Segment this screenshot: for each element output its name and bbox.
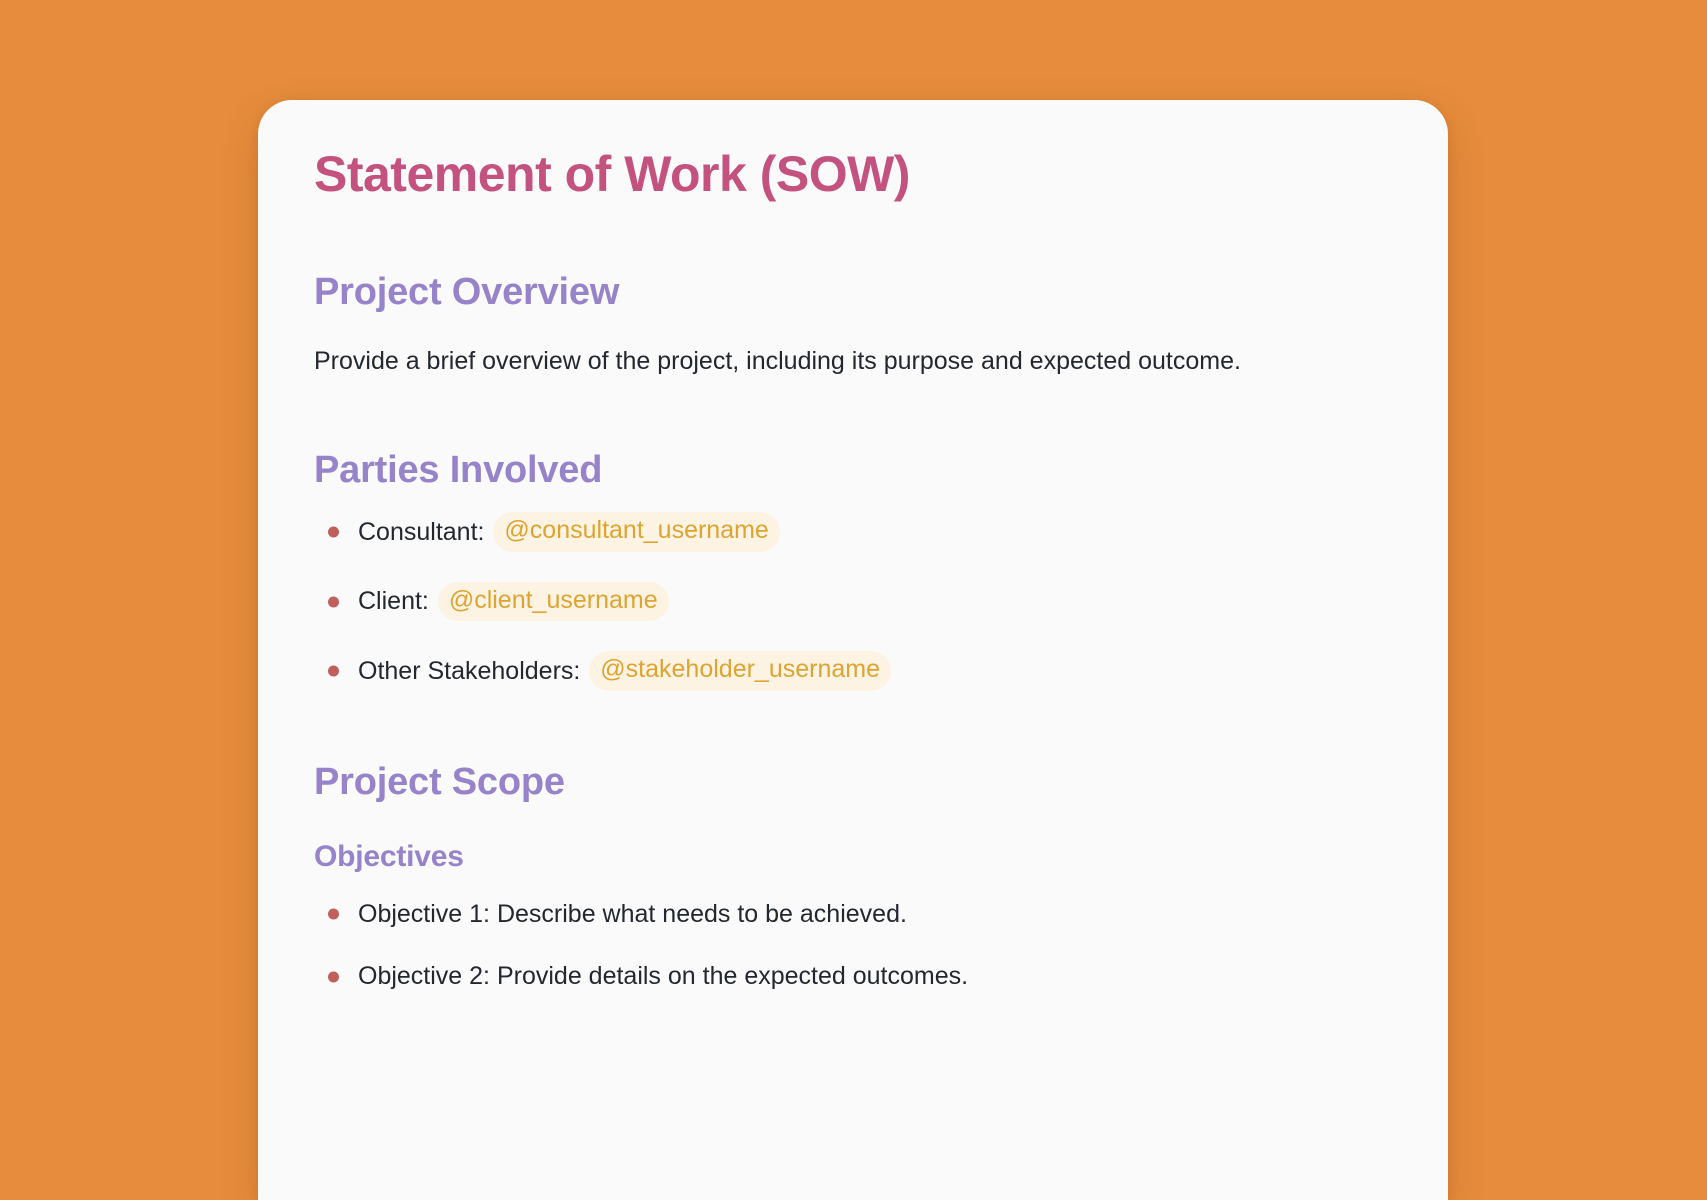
list-item: Consultant: @consultant_username	[314, 512, 1392, 552]
list-parties: Consultant: @consultant_username Client:…	[314, 512, 1392, 691]
objective-text: Objective 2: Provide details on the expe…	[358, 960, 968, 993]
spacer	[314, 205, 1392, 269]
bullet-dot-icon	[328, 666, 339, 677]
bullet-dot-icon	[328, 527, 339, 538]
list-item: Objective 1: Describe what needs to be a…	[314, 898, 1392, 931]
party-role-label: Other Stakeholders:	[358, 655, 587, 688]
list-item: Other Stakeholders: @stakeholder_usernam…	[314, 651, 1392, 691]
spacer	[314, 494, 1392, 512]
heading-project-overview: Project Overview	[314, 269, 1392, 317]
bullet-dot-icon	[328, 909, 339, 920]
spacer	[314, 379, 1392, 447]
heading-project-scope: Project Scope	[314, 759, 1392, 807]
list-item: Objective 2: Provide details on the expe…	[314, 960, 1392, 993]
section-project-scope: Project Scope Objectives Objective 1: De…	[314, 759, 1392, 993]
mention-chip-client[interactable]: @client_username	[438, 582, 669, 622]
spacer	[314, 691, 1392, 759]
heading-parties-involved: Parties Involved	[314, 447, 1392, 495]
document-card: Statement of Work (SOW) Project Overview…	[258, 100, 1448, 1200]
document-content: Statement of Work (SOW) Project Overview…	[258, 100, 1448, 993]
page-root: Statement of Work (SOW) Project Overview…	[0, 0, 1707, 1138]
mention-chip-stakeholder[interactable]: @stakeholder_username	[589, 651, 891, 691]
bullet-dot-icon	[328, 596, 339, 607]
spacer	[314, 806, 1392, 838]
list-objectives: Objective 1: Describe what needs to be a…	[314, 898, 1392, 993]
party-role-label: Consultant:	[358, 516, 491, 549]
spacer	[314, 876, 1392, 898]
party-role-label: Client:	[358, 585, 436, 618]
bullet-dot-icon	[328, 971, 339, 982]
subheading-objectives: Objectives	[314, 838, 1392, 876]
page-title: Statement of Work (SOW)	[314, 144, 1392, 205]
objective-text: Objective 1: Describe what needs to be a…	[358, 898, 907, 931]
mention-chip-consultant[interactable]: @consultant_username	[493, 512, 779, 552]
paragraph-project-overview: Provide a brief overview of the project,…	[314, 343, 1392, 379]
spacer	[314, 317, 1392, 343]
list-item: Client: @client_username	[314, 582, 1392, 622]
section-parties-involved: Parties Involved Consultant: @consultant…	[314, 447, 1392, 691]
section-project-overview: Project Overview Provide a brief overvie…	[314, 269, 1392, 379]
